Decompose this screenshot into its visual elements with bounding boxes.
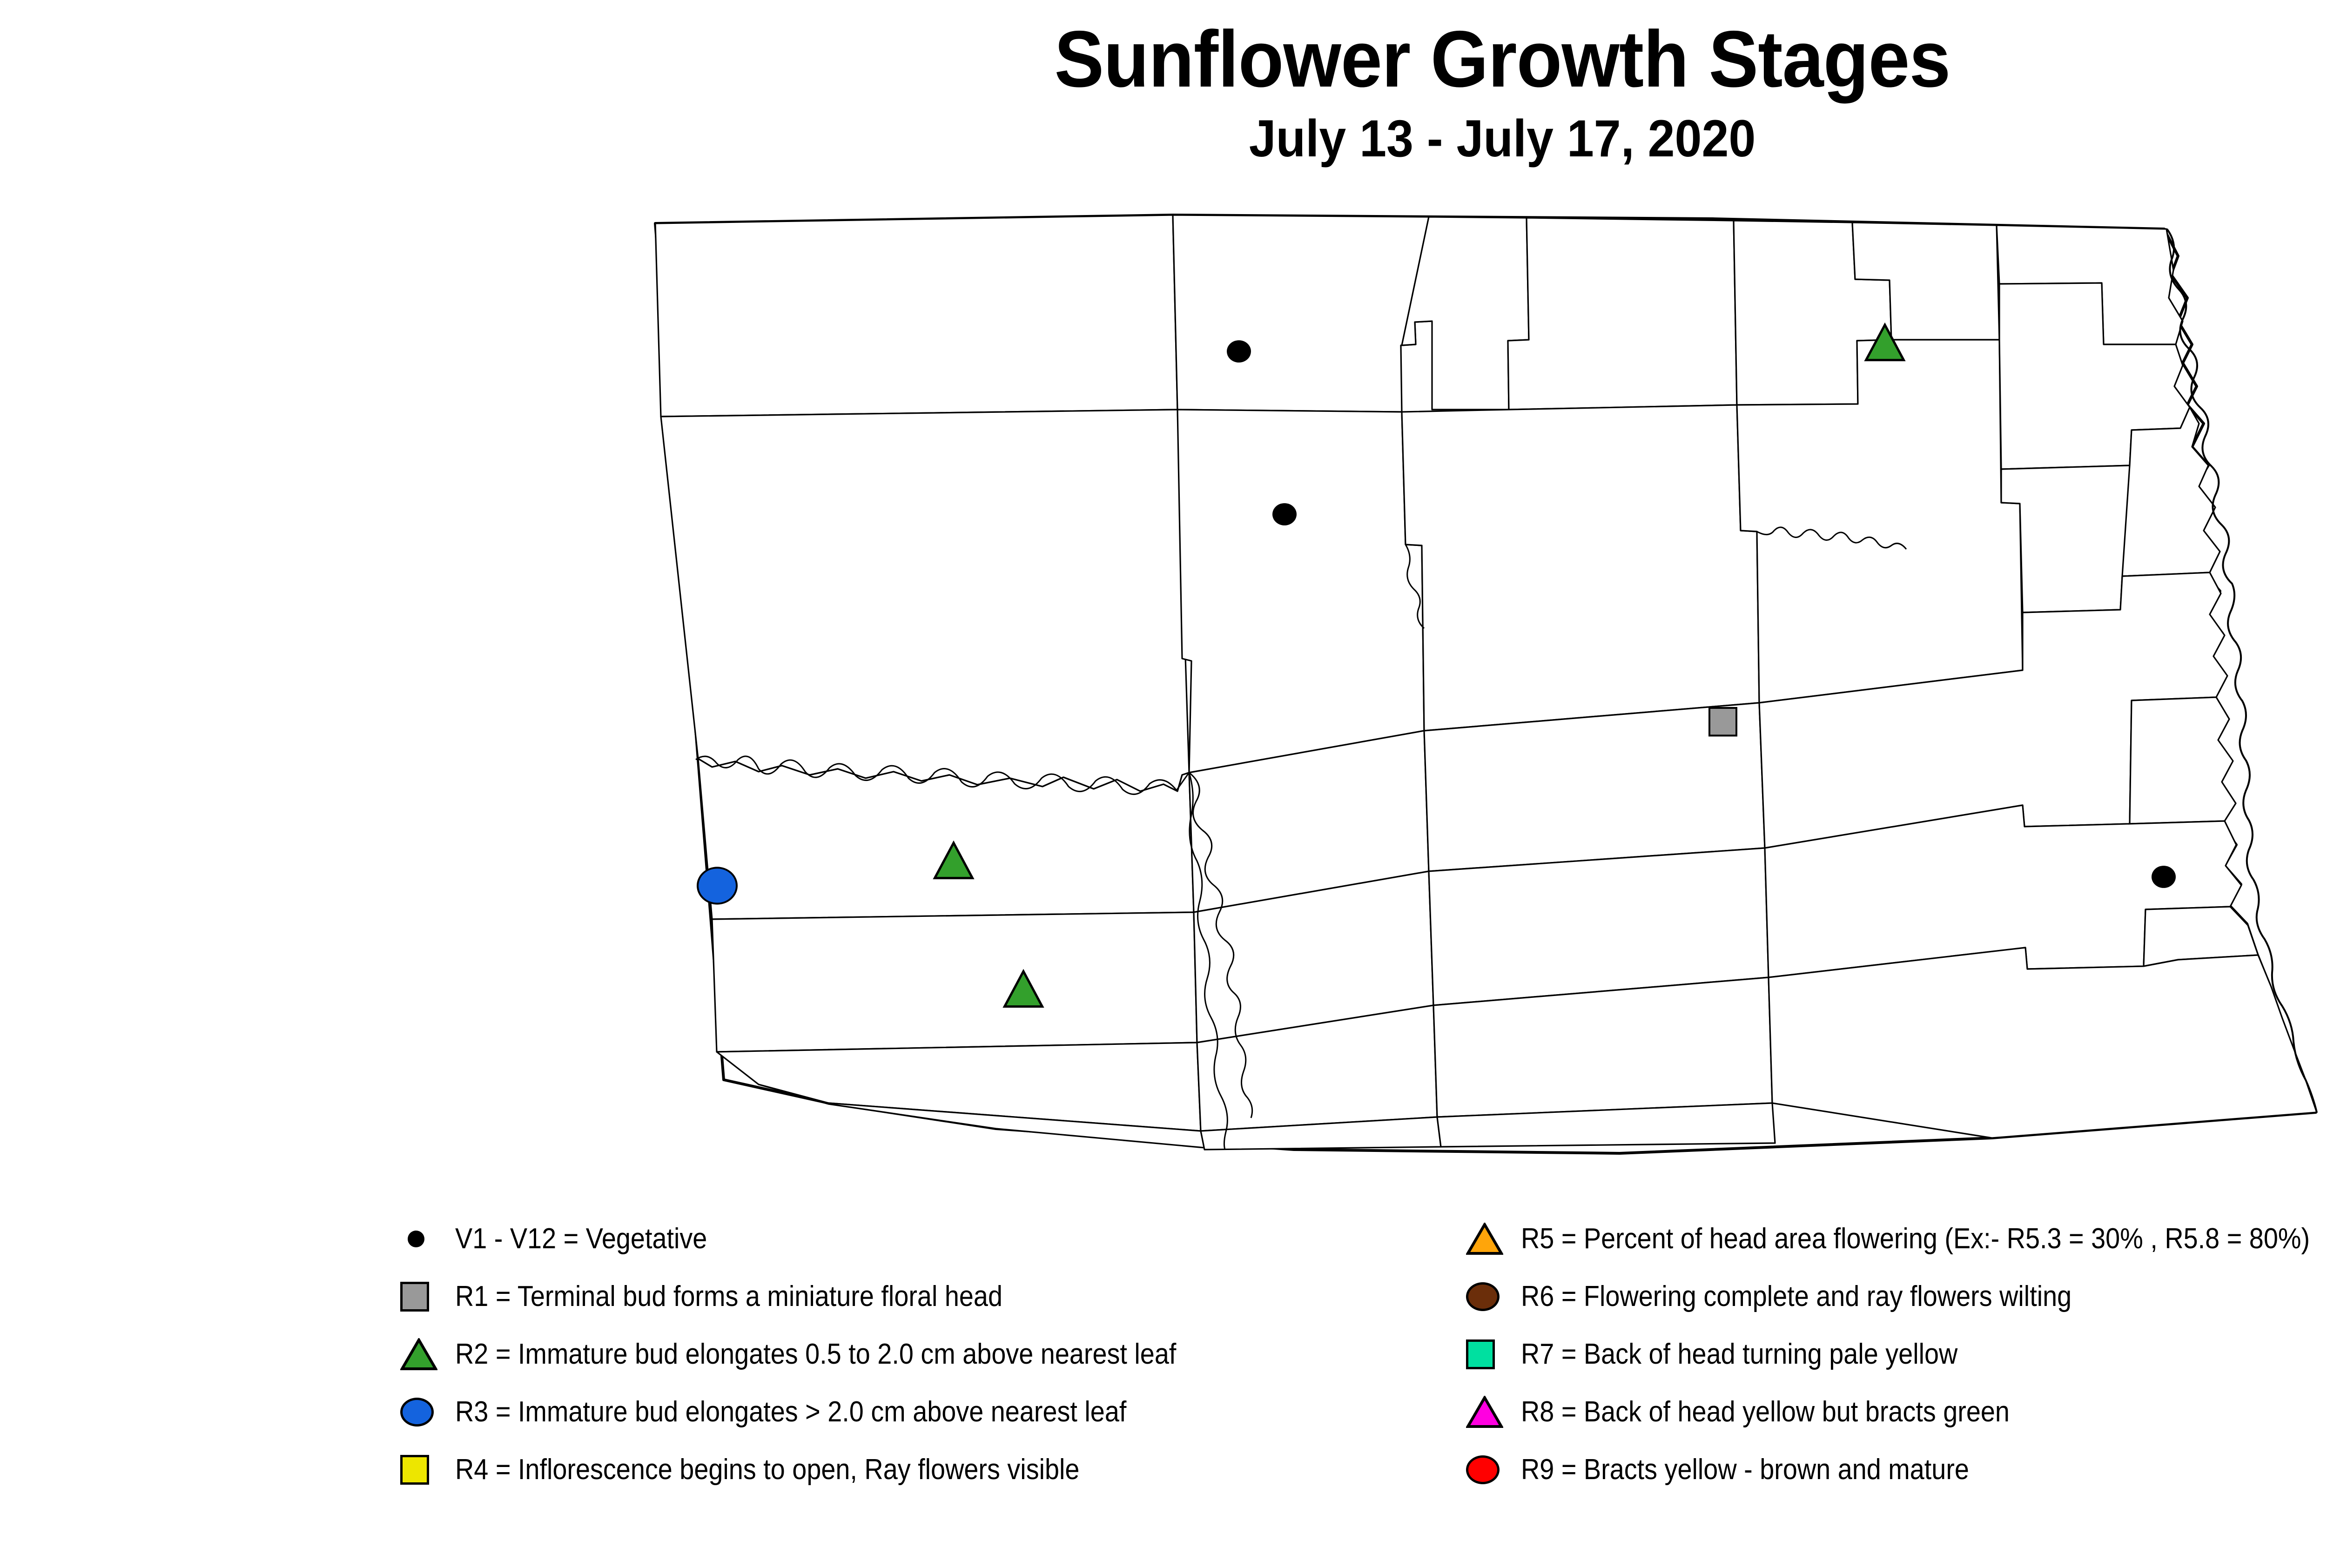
legend-label: R8 = Back of head yellow but bracts gree… [1521,1398,2010,1427]
legend-item-r5[interactable]: R5 = Percent of head area flowering (Ex:… [1466,1210,2327,1268]
legend-item-v[interactable]: V1 - V12 = Vegetative [400,1210,1471,1268]
legend-triangle-icon [400,1338,437,1371]
legend-item-r4[interactable]: R4 = Inflorescence begins to open, Ray f… [400,1441,1471,1499]
title-block: Sunflower Growth Stages July 13 - July 1… [0,19,2327,166]
north-dakota-county-map [642,205,2327,1210]
legend-label: R3 = Immature bud elongates > 2.0 cm abo… [455,1398,1126,1427]
legend-circle-icon [400,1398,434,1427]
legend-label: R5 = Percent of head area flowering (Ex:… [1521,1225,2310,1253]
legend-label: V1 - V12 = Vegetative [455,1225,707,1253]
legend-label: R4 = Inflorescence begins to open, Ray f… [455,1455,1079,1484]
legend-square-icon [400,1282,429,1312]
county-boundaries [655,215,2317,1153]
legend-triangle-icon [1466,1396,1503,1428]
legend-item-r9[interactable]: R9 = Bracts yellow - brown and mature [1466,1441,2327,1499]
legend: V1 - V12 = VegetativeR1 = Terminal bud f… [400,1210,2327,1536]
legend-item-r7[interactable]: R7 = Back of head turning pale yellow [1466,1326,2327,1383]
map-marker-r3[interactable] [698,868,737,903]
legend-label: R2 = Immature bud elongates 0.5 to 2.0 c… [455,1340,1176,1369]
legend-label: R7 = Back of head turning pale yellow [1521,1340,1957,1369]
map-marker-r1[interactable] [1709,708,1736,735]
map-marker-v[interactable] [2152,866,2176,888]
legend-circle-icon [1466,1282,1500,1311]
legend-label: R9 = Bracts yellow - brown and mature [1521,1455,1969,1484]
legend-square-icon [400,1455,429,1485]
legend-triangle-icon [1466,1223,1503,1255]
legend-item-r2[interactable]: R2 = Immature bud elongates 0.5 to 2.0 c… [400,1326,1471,1383]
page-subtitle: July 13 - July 17, 2020 [105,112,2327,165]
legend-dot-icon [408,1231,424,1247]
map-marker-v[interactable] [1227,340,1251,363]
legend-item-r6[interactable]: R6 = Flowering complete and ray flowers … [1466,1268,2327,1326]
legend-square-icon [1466,1339,1495,1369]
legend-item-r8[interactable]: R8 = Back of head yellow but bracts gree… [1466,1383,2327,1441]
legend-label: R6 = Flowering complete and ray flowers … [1521,1282,2071,1311]
page-title: Sunflower Growth Stages [105,19,2327,100]
legend-column-right: R5 = Percent of head area flowering (Ex:… [1466,1210,2327,1499]
legend-column-left: V1 - V12 = VegetativeR1 = Terminal bud f… [400,1210,1471,1499]
legend-item-r3[interactable]: R3 = Immature bud elongates > 2.0 cm abo… [400,1383,1471,1441]
legend-label: R1 = Terminal bud forms a miniature flor… [455,1282,1002,1311]
legend-item-r1[interactable]: R1 = Terminal bud forms a miniature flor… [400,1268,1471,1326]
legend-circle-icon [1466,1455,1500,1484]
map-marker-v[interactable] [1272,503,1297,525]
map-container [642,205,2327,1210]
